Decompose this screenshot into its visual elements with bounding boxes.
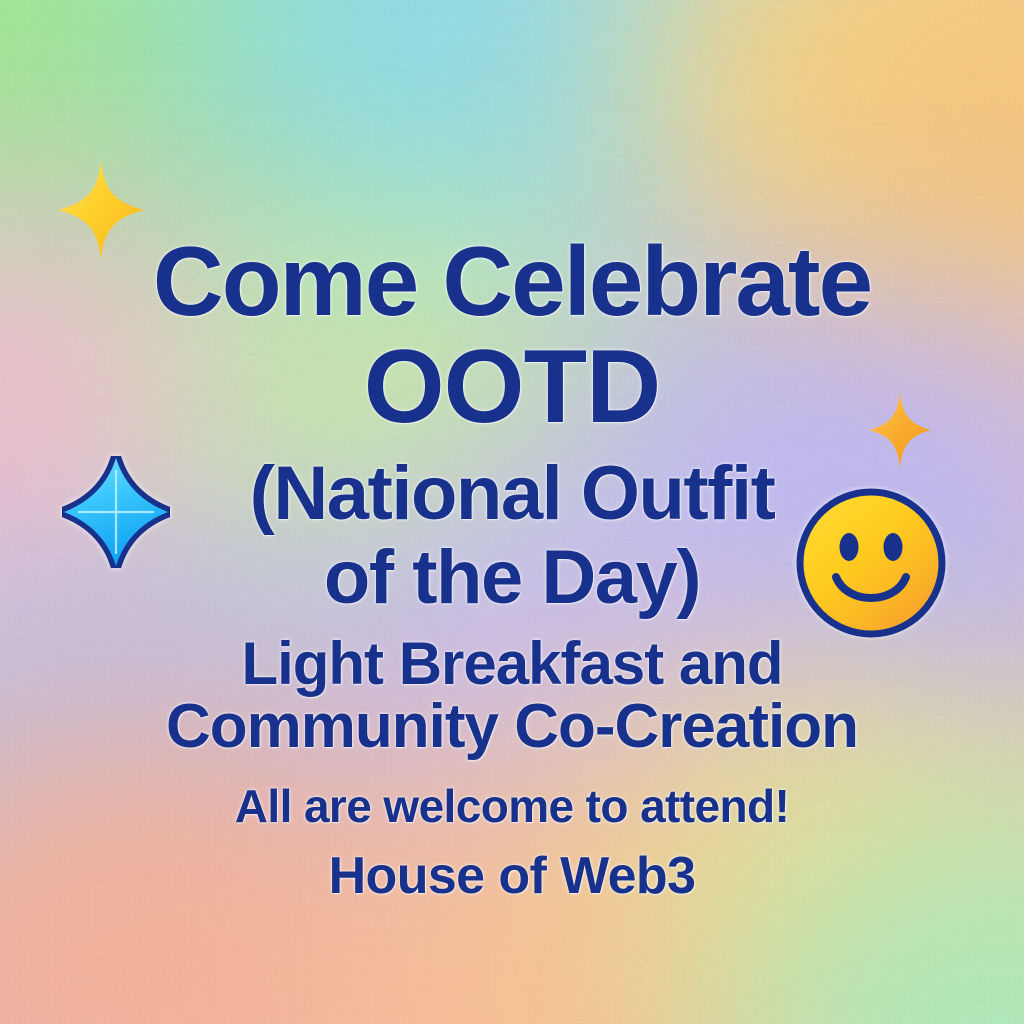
poster-acronym: OOTD xyxy=(0,332,1024,442)
poster-venue: House of Web3 xyxy=(0,845,1024,907)
poster-text-block: Come Celebrate OOTD (National Outfit of … xyxy=(0,0,1024,1024)
poster-canvas: Come Celebrate OOTD (National Outfit of … xyxy=(0,0,1024,1024)
poster-expansion-line-2: of the Day) xyxy=(0,536,1024,620)
poster-expansion-line-1: (National Outfit xyxy=(0,452,1024,536)
poster-offering-line-1: Light Breakfast and xyxy=(0,630,1024,698)
poster-offering-line-2: Community Co-Creation xyxy=(0,692,1024,762)
poster-headline: Come Celebrate xyxy=(0,228,1024,334)
poster-invitation: All are welcome to attend! xyxy=(0,779,1024,833)
